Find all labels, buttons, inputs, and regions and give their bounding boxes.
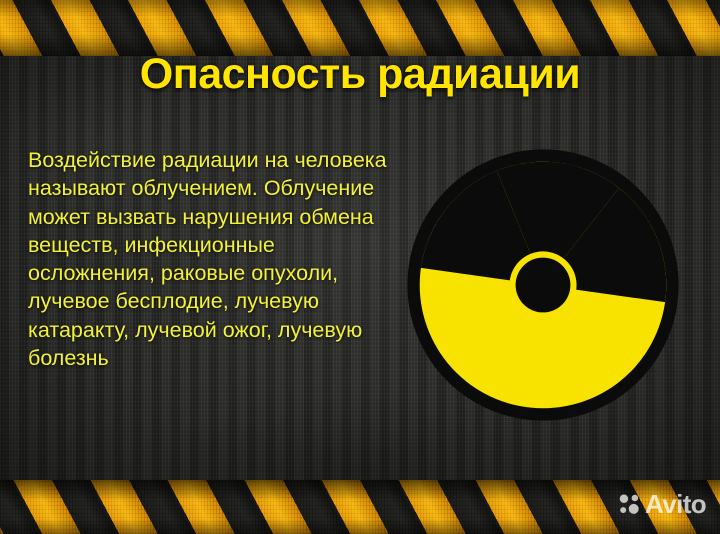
- radiation-trefoil-icon: [406, 148, 680, 422]
- hazard-stripe-band-top: [0, 0, 720, 56]
- avito-dots-logo: [618, 493, 641, 516]
- page-title: Опасность радиации: [0, 52, 720, 97]
- hazard-shade-bottom: [0, 480, 720, 534]
- hazard-stripe-band-bottom: [0, 480, 720, 534]
- body-paragraph: Воздействие радиации на человека называю…: [28, 146, 388, 372]
- avito-watermark-text: Avito: [645, 491, 706, 517]
- avito-watermark: Avito: [618, 489, 706, 519]
- hazard-shade-top: [0, 0, 720, 56]
- radiation-hazard-poster: Опасность радиации Воздействие радиации …: [0, 0, 720, 534]
